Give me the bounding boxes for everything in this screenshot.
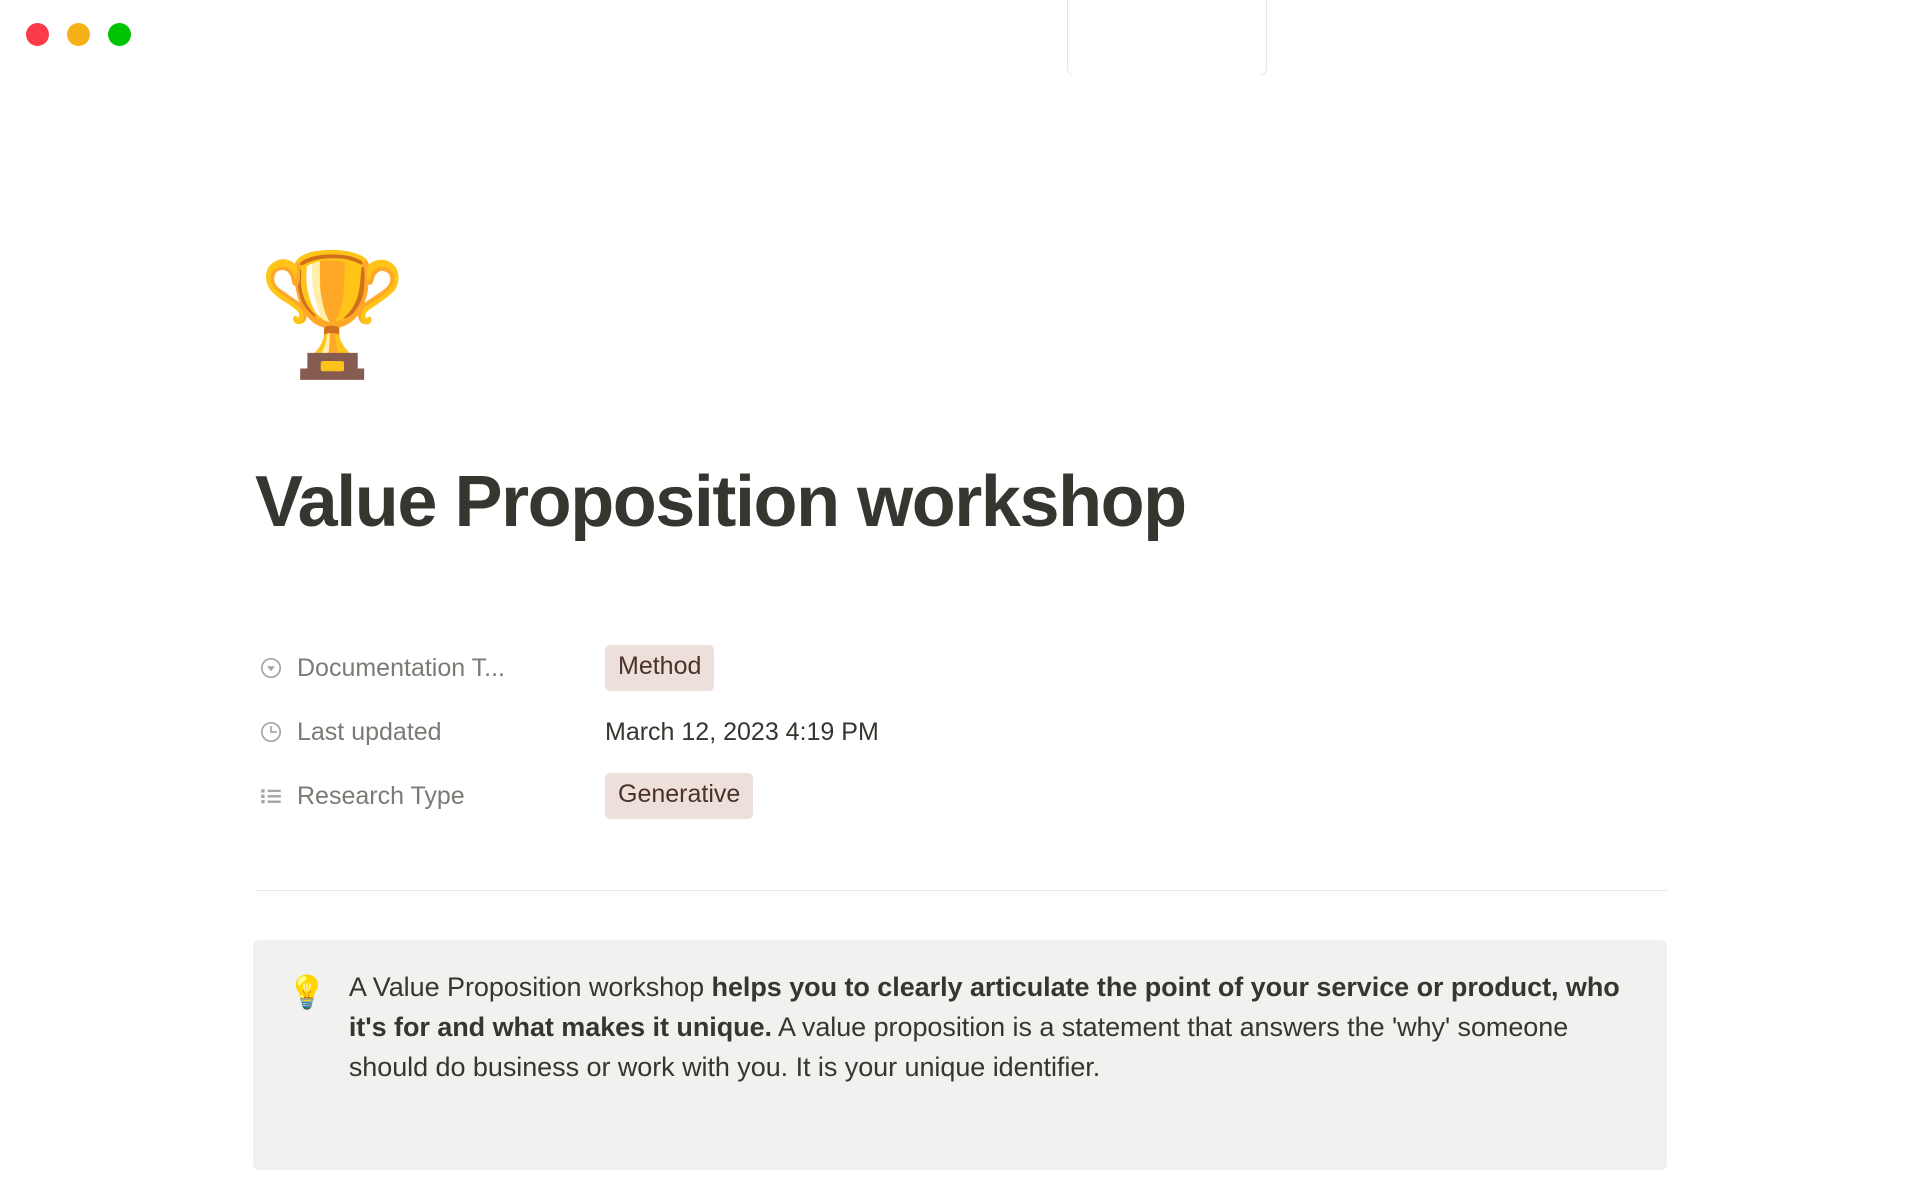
- callout-text: A Value Proposition workshop helps you t…: [349, 968, 1633, 1136]
- select-chevron-circle-icon: [258, 655, 284, 681]
- property-label-group[interactable]: Last updated: [258, 718, 605, 747]
- callout-block[interactable]: 💡 A Value Proposition workshop helps you…: [253, 940, 1667, 1170]
- page-title[interactable]: Value Proposition workshop: [255, 465, 1675, 541]
- content-divider: [255, 890, 1667, 891]
- close-window-button[interactable]: [26, 23, 49, 46]
- window-controls: [26, 23, 131, 46]
- bulleted-list-icon: [258, 783, 284, 809]
- lightbulb-emoji: 💡: [287, 968, 327, 1136]
- property-row-last-updated[interactable]: Last updated March 12, 2023 4:19 PM: [258, 704, 1667, 760]
- property-label-group[interactable]: Research Type: [258, 782, 605, 811]
- property-name: Research Type: [297, 782, 465, 811]
- status-badge[interactable]: Generative: [605, 773, 753, 819]
- property-value-group[interactable]: Method: [605, 645, 714, 691]
- app-window: 🏆 Value Proposition workshop Documentati…: [0, 0, 1920, 1200]
- property-row-documentation-type[interactable]: Documentation T... Method: [258, 640, 1667, 696]
- property-value-group[interactable]: Generative: [605, 773, 753, 819]
- last-updated-value: March 12, 2023 4:19 PM: [605, 718, 879, 747]
- property-name: Last updated: [297, 718, 442, 747]
- clock-icon: [258, 719, 284, 745]
- property-name: Documentation T...: [297, 654, 505, 683]
- maximize-window-button[interactable]: [108, 23, 131, 46]
- property-row-research-type[interactable]: Research Type Generative: [258, 768, 1667, 824]
- window-titlebar: [0, 0, 1920, 75]
- property-label-group[interactable]: Documentation T...: [258, 654, 605, 683]
- toolbar-popover-stub: [1067, 0, 1267, 76]
- trophy-emoji[interactable]: 🏆: [258, 255, 407, 375]
- minimize-window-button[interactable]: [67, 23, 90, 46]
- property-value-group[interactable]: March 12, 2023 4:19 PM: [605, 718, 879, 747]
- page-body: 🏆 Value Proposition workshop Documentati…: [0, 75, 1920, 1200]
- page-properties: Documentation T... Method Last updated: [258, 640, 1667, 832]
- status-badge[interactable]: Method: [605, 645, 714, 691]
